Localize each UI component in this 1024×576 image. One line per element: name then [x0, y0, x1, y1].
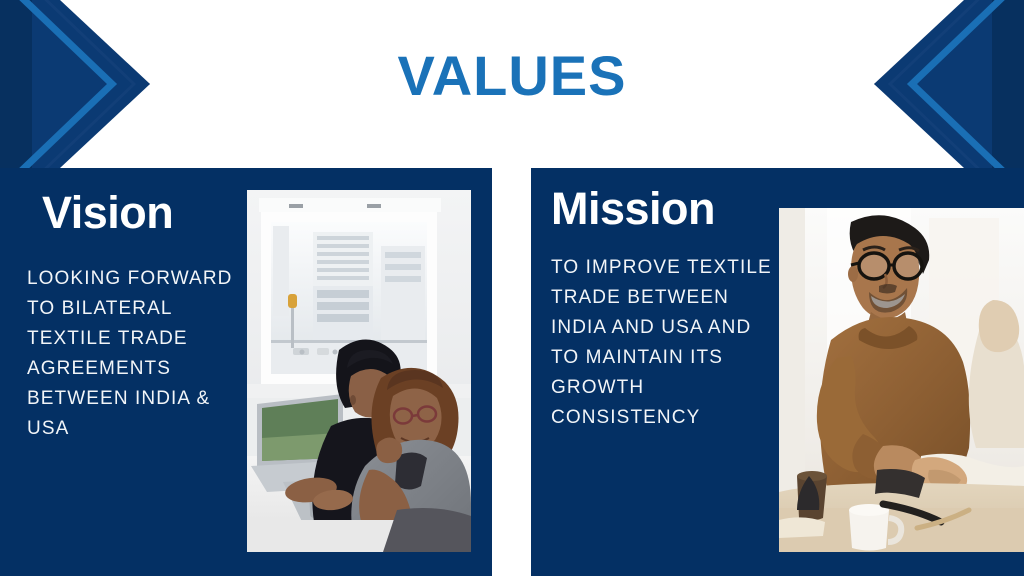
slide-canvas: VALUES Vision LOOKING FORWARD TO BILATER…: [0, 0, 1024, 576]
mission-photo-illustration: [779, 208, 1024, 552]
vision-heading: Vision: [42, 190, 173, 235]
page-title: VALUES: [0, 48, 1024, 104]
mission-photo: [779, 208, 1024, 552]
mission-body-text: TO IMPROVE TEXTILE TRADE BETWEEN INDIA A…: [551, 253, 776, 433]
vision-photo: [247, 190, 471, 552]
mission-heading: Mission: [551, 186, 715, 231]
vision-photo-illustration: [247, 190, 471, 552]
vision-body-text: LOOKING FORWARD TO BILATERAL TEXTILE TRA…: [27, 264, 237, 444]
